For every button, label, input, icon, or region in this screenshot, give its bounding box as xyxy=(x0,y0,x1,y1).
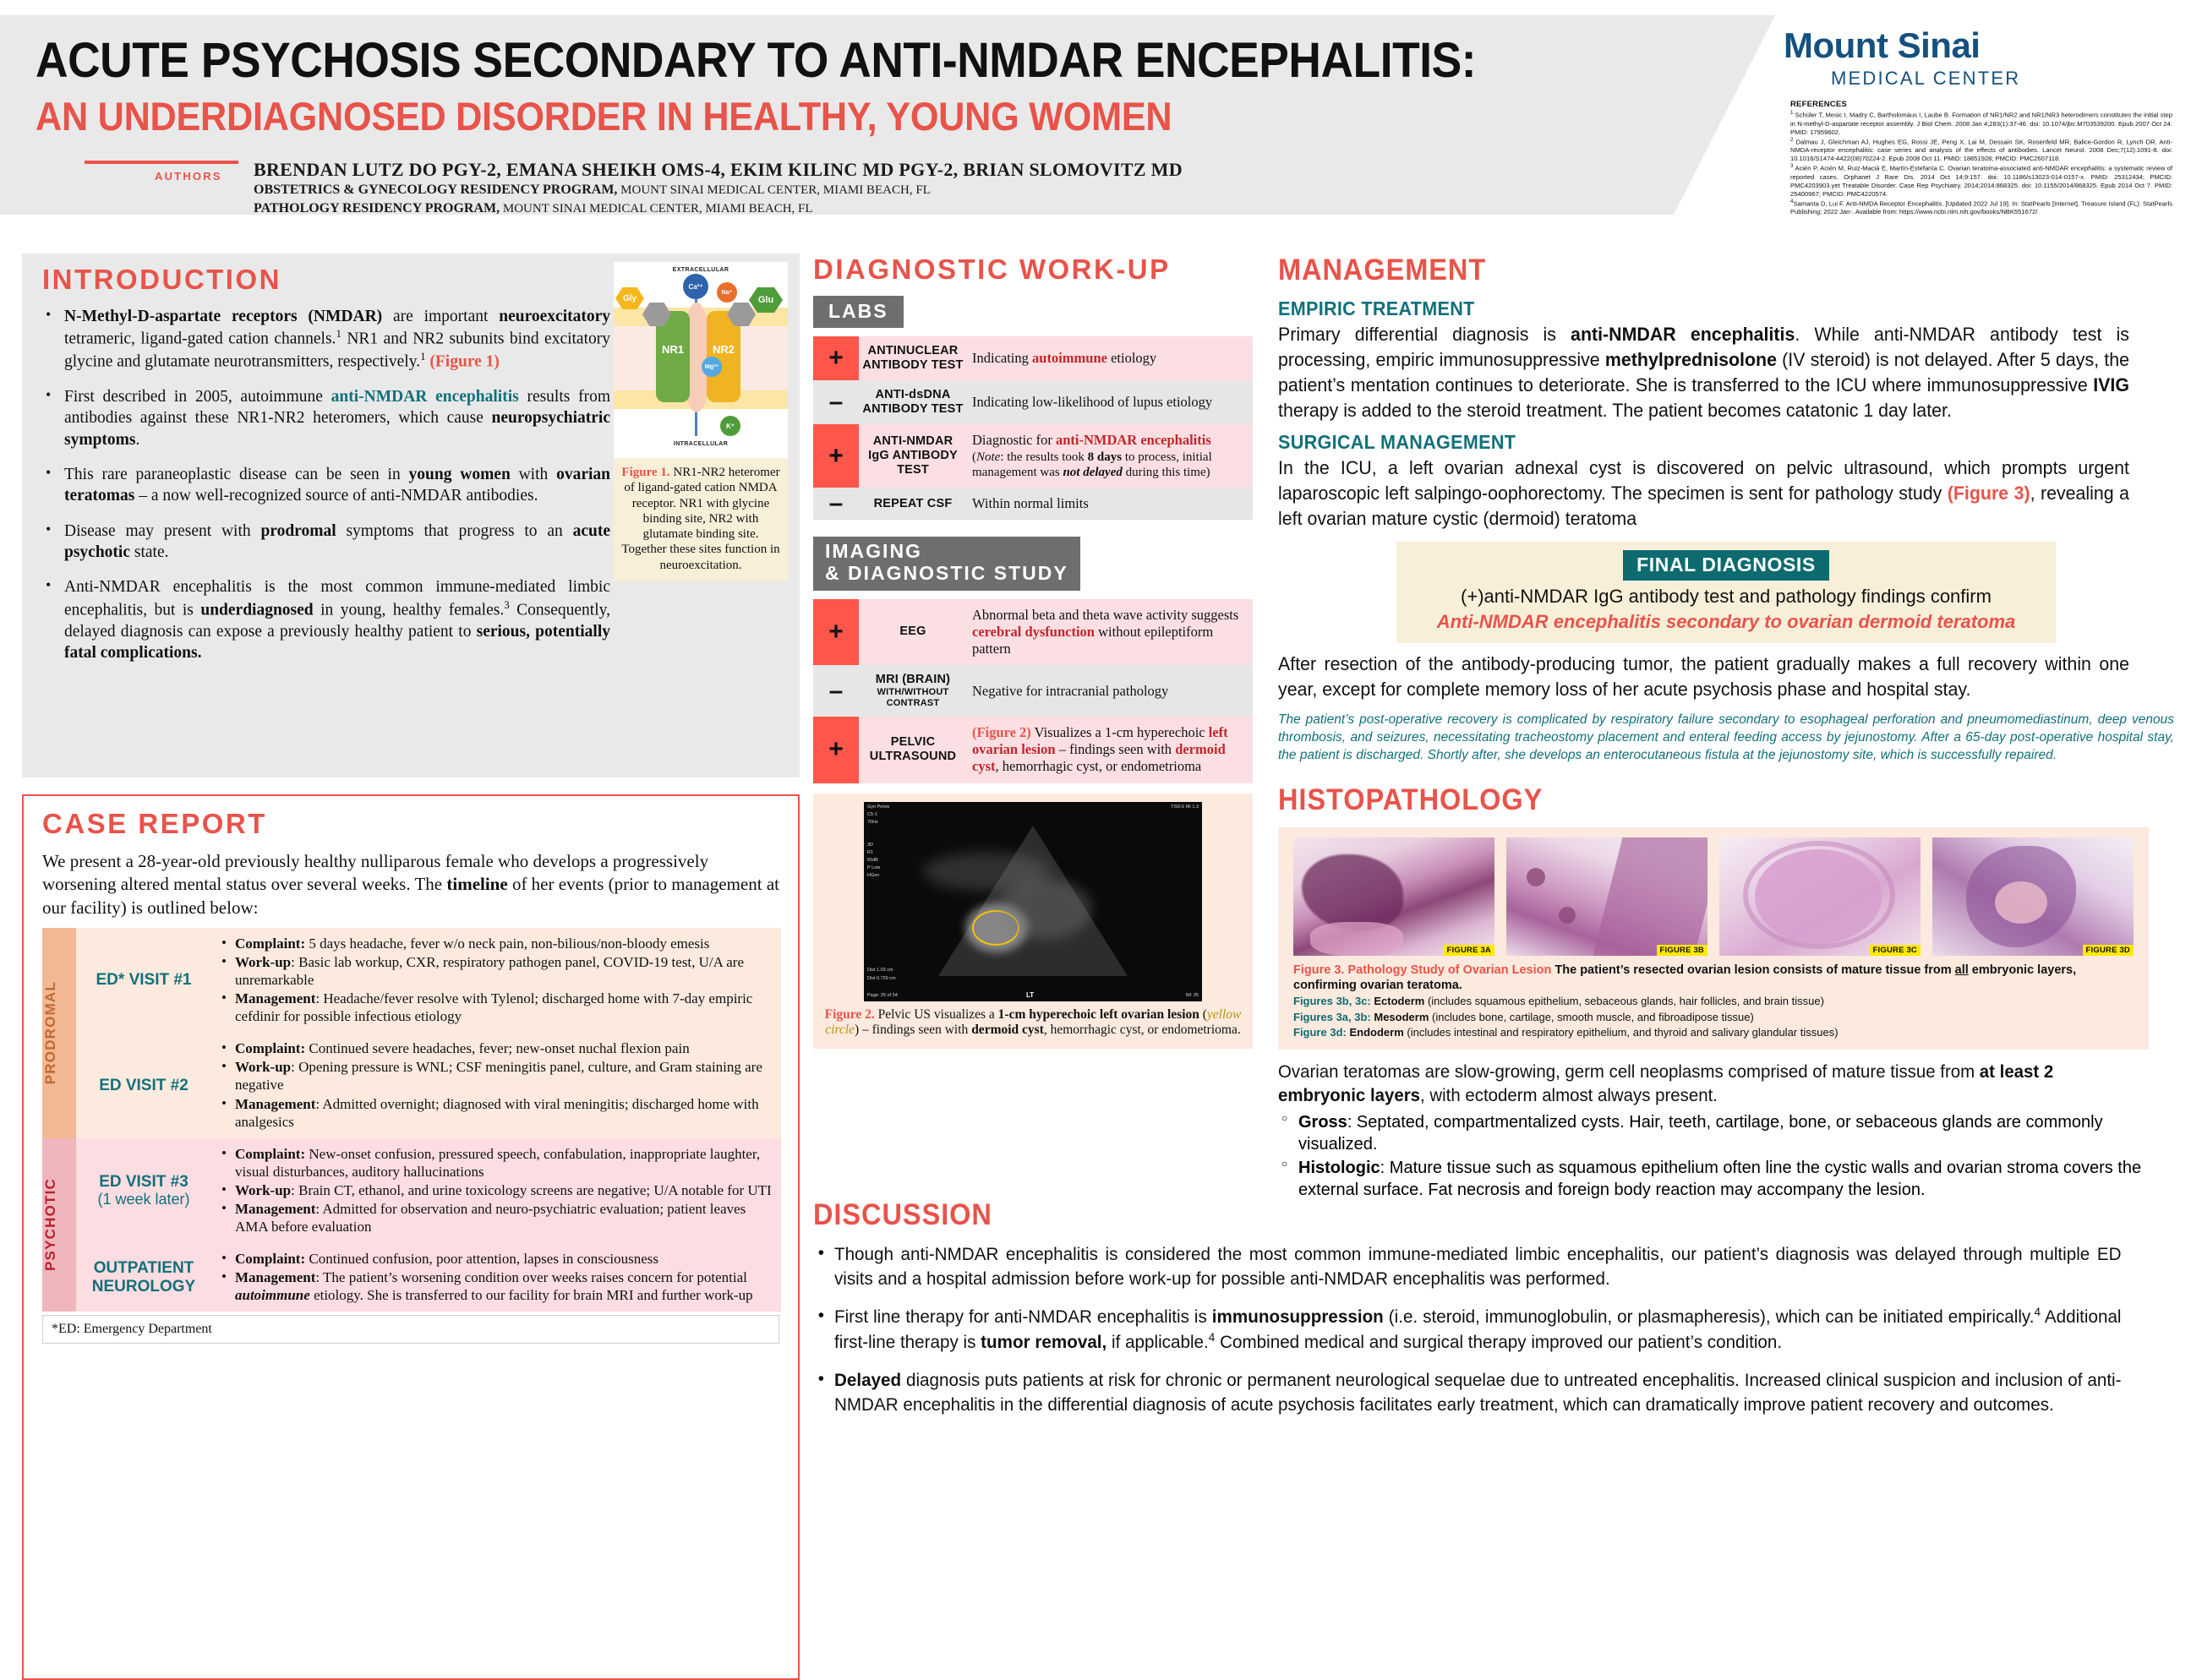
figure-1-label: Figure 1. xyxy=(621,466,669,479)
introduction-bullet-list: N-Methyl-D-aspartate receptors (NMDAR) a… xyxy=(42,306,610,663)
imaging-tag-line2: & DIAGNOSTIC STUDY xyxy=(825,563,1068,585)
reference-text: Dalmau J, Gleichman AJ, Hughes EG, Rossi… xyxy=(1790,138,2172,162)
visit-details-4: Complaint: Continued confusion, poor att… xyxy=(211,1243,781,1312)
figure-3-label: Figure 3. Pathology Study of Ovarian Les… xyxy=(1293,963,1551,977)
potassium-ion: K⁺ xyxy=(720,416,740,436)
management-heading: MANAGEMENT xyxy=(1278,254,2112,287)
extracellular-label: EXTRACELLULAR xyxy=(614,267,788,273)
us-label-gain: 65dB xyxy=(867,858,878,863)
histology-image-3a: FIGURE 3A xyxy=(1293,837,1494,956)
surgical-management-subheading: SURGICAL MANAGEMENT xyxy=(1278,431,2120,454)
affiliation-pathology-program: PATHOLOGY RESIDENCY PROGRAM, xyxy=(254,201,500,215)
references-title: REFERENCES xyxy=(1790,100,2172,109)
result-sign-negative: – xyxy=(813,488,859,520)
detail-list: Complaint: 5 days headache, fever w/o ne… xyxy=(218,935,774,1025)
final-diagnosis-box: FINAL DIAGNOSIS (+)anti-NMDAR IgG antibo… xyxy=(1396,542,2056,643)
diagnostic-workup-heading: DIAGNOSTIC WORK-UP xyxy=(813,254,1261,286)
list-item: Complaint: Continued severe headaches, f… xyxy=(218,1039,774,1057)
us-label-modality: Gyn Pelvis xyxy=(867,805,889,810)
imaging-table: + EEG Abnormal beta and theta wave activ… xyxy=(813,599,1253,783)
figure-3-caption: Figure 3. Pathology Study of Ovarian Les… xyxy=(1293,963,2134,1041)
visit-text: ED* VISIT #1 xyxy=(96,971,192,989)
introduction-panel: INTRODUCTION N-Methyl-D-aspartate recept… xyxy=(22,254,800,777)
affiliation-obgyn-site: MOUNT SINAI MEDICAL CENTER, MIAMI BEACH,… xyxy=(617,183,930,197)
detail-list: Complaint: New-onset confusion, pressure… xyxy=(218,1145,774,1235)
nr2-label: NR2 xyxy=(707,343,740,356)
list-item: Complaint: 5 days headache, fever w/o ne… xyxy=(218,935,774,952)
visit-label-1: ED* VISIT #1 xyxy=(76,928,211,1033)
us-label-dist1: Dist 1.03 cm xyxy=(867,968,893,973)
surgical-management-text: In the ICU, a left ovarian adnexal cyst … xyxy=(1278,455,2129,532)
list-item: First line therapy for anti-NMDAR enceph… xyxy=(813,1305,2122,1355)
table-row: ED VISIT #2 Complaint: Continued severe … xyxy=(42,1033,781,1137)
list-item: Management: Headache/fever resolve with … xyxy=(218,990,774,1025)
detail-list: Complaint: Continued confusion, poor att… xyxy=(218,1250,774,1304)
study-name-detail: WITH/WITHOUT CONTRAST xyxy=(862,687,964,709)
tissue-detail xyxy=(1527,868,1545,886)
affiliation-obgyn: OBSTETRICS & GYNECOLOGY RESIDENCY PROGRA… xyxy=(254,183,931,198)
study-name: MRI (BRAIN) WITH/WITHOUT CONTRAST xyxy=(859,665,967,717)
figure-2-panel: Gyn Pelvis C5-1 70Hz 3D R1 65dB P Low HG… xyxy=(813,794,1253,1050)
middle-column: DIAGNOSTIC WORK-UP LABS + ANTINUCLEAR AN… xyxy=(813,254,1261,1049)
recovery-text: After resection of the antibody-producin… xyxy=(1278,652,2129,702)
study-description: Abnormal beta and theta wave activity su… xyxy=(967,599,1253,665)
labs-tag: LABS xyxy=(813,296,904,328)
case-report-footnote: *ED: Emergency Department xyxy=(42,1315,779,1344)
us-label-tis: TIS0.6 MI 1.3 xyxy=(1171,805,1199,810)
phase-label-psychotic: PSYCHOTIC xyxy=(42,1138,76,1312)
intracellular-label: INTRACELLULAR xyxy=(614,441,788,447)
references-list: 1 Schüler T, Mesic I, Madry C, Bartholom… xyxy=(1790,110,2172,216)
result-sign-negative: – xyxy=(813,380,859,424)
figure-3a-tag: FIGURE 3A xyxy=(1444,945,1494,956)
empiric-treatment-text: Primary differential diagnosis is anti-N… xyxy=(1278,322,2129,424)
us-label-side: LT xyxy=(1026,991,1034,999)
us-tissue-near xyxy=(923,853,1050,891)
table-row: PRODROMAL ED* VISIT #1 Complaint: 5 days… xyxy=(42,928,781,1033)
introduction-heading: INTRODUCTION xyxy=(42,264,610,296)
list-item: Complaint: New-onset confusion, pressure… xyxy=(218,1145,774,1181)
sodium-ion: Na⁺ xyxy=(717,282,737,303)
phase-text: PRODROMAL xyxy=(42,981,59,1084)
case-timeline-table: PRODROMAL ED* VISIT #1 Complaint: 5 days… xyxy=(42,928,781,1312)
figure-2-caption: Figure 2. Pelvic US visualizes a 1-cm hy… xyxy=(823,1007,1243,1039)
page-subtitle: AN UNDERDIAGNOSED DISORDER IN HEALTHY, Y… xyxy=(36,93,1172,139)
nmda-receptor-diagram: EXTRACELLULAR INTRACELLULAR NR1 NR2 Gly … xyxy=(614,262,788,458)
discussion-panel: DISCUSSION Though anti-NMDAR encephaliti… xyxy=(813,1198,2176,1432)
gly-ligand: Gly xyxy=(615,287,644,309)
study-name: EEG xyxy=(859,599,967,665)
poster-header: ACUTE PSYCHOSIS SECONDARY TO ANTI-NMDAR … xyxy=(0,0,2191,230)
us-label-plow: P Low xyxy=(867,865,880,870)
list-item: Work-up: Basic lab workup, CXR, respirat… xyxy=(218,953,774,989)
test-description: Diagnostic for anti-NMDAR encephalitis(N… xyxy=(967,424,1253,488)
test-name: ANTI-dsDNA ANTIBODY TEST xyxy=(859,380,967,424)
reference-item: 4Samanta D, Lui F. Anti-NMDA Receptor En… xyxy=(1790,199,2172,217)
labs-table: + ANTINUCLEAR ANTIBODY TEST Indicating a… xyxy=(813,336,1253,520)
test-name: REPEAT CSF xyxy=(859,488,967,520)
case-report-heading: CASE REPORT xyxy=(42,808,779,840)
result-sign-positive: + xyxy=(813,717,859,783)
result-sign-negative: – xyxy=(813,665,859,717)
figure-3-layer-line: Figure 3d: Endoderm (includes intestinal… xyxy=(1293,1025,2134,1040)
us-label-dist2: Dist 0.729 cm xyxy=(867,976,896,981)
authors-label: AUTHORS xyxy=(155,170,222,183)
phase-text: PSYCHOTIC xyxy=(42,1178,59,1271)
list-item: Complaint: Continued confusion, poor att… xyxy=(218,1250,774,1268)
imaging-tag-line1: IMAGING xyxy=(825,541,1068,563)
empiric-treatment-subheading: EMPIRIC TREATMENT xyxy=(1278,297,2120,320)
tissue-detail xyxy=(1593,837,1707,956)
calcium-ion: Ca²⁺ xyxy=(683,274,708,299)
list-item: Anti-NMDAR encephalitis is the most comm… xyxy=(42,576,610,663)
reference-item: 3 Acién P, Acién M, Ruiz-Maciá E, Martín… xyxy=(1790,163,2172,199)
list-item: Gross: Septated, compartmentalized cysts… xyxy=(1278,1111,2174,1155)
study-description: Negative for intracranial pathology xyxy=(967,665,1253,717)
authors-list: BRENDAN LUTZ DO PGY-2, EMANA SHEIKH OMS-… xyxy=(254,159,1183,181)
list-item: Histologic: Mature tissue such as squamo… xyxy=(1278,1157,2174,1201)
result-sign-positive: + xyxy=(813,599,859,665)
imaging-tag: IMAGING & DIAGNOSTIC STUDY xyxy=(813,537,1080,591)
us-label-freq: 70Hz xyxy=(867,820,878,825)
list-item: Though anti-NMDAR encephalitis is consid… xyxy=(813,1242,2122,1291)
list-item: Management: Admitted for observation and… xyxy=(218,1200,774,1235)
case-report-intro: We present a 28-year-old previously heal… xyxy=(42,850,779,919)
list-item: Delayed diagnosis puts patients at risk … xyxy=(813,1368,2122,1417)
final-diagnosis-line2: Anti-NMDAR encephalitis secondary to ova… xyxy=(1396,611,2056,633)
visit-subtext: (1 week later) xyxy=(83,1191,205,1208)
final-diagnosis-tag: FINAL DIAGNOSIS xyxy=(1623,550,1829,581)
phase-label-prodromal: PRODROMAL xyxy=(42,928,76,1138)
visit-details-3: Complaint: New-onset confusion, pressure… xyxy=(211,1138,781,1243)
detail-list: Complaint: Continued severe headaches, f… xyxy=(218,1039,774,1130)
histopathology-panel: FIGURE 3A FIGURE 3B FIGURE 3C FIGURE 3D xyxy=(1278,827,2149,1050)
test-description: Indicating autoimmune etiology xyxy=(967,336,1253,380)
figure-3-caption-main: Figure 3. Pathology Study of Ovarian Les… xyxy=(1293,963,2134,995)
figure-3-layer-line: Figures 3b, 3c: Ectoderm (includes squam… xyxy=(1293,994,2134,1009)
tissue-detail xyxy=(1995,881,2047,924)
tissue-detail xyxy=(1302,854,1403,930)
nr1-label: NR1 xyxy=(656,343,690,356)
us-label-page: Page: 25 of 34 xyxy=(867,993,898,998)
discussion-bullet-list: Though anti-NMDAR encephalitis is consid… xyxy=(813,1242,2176,1418)
tissue-detail xyxy=(1310,922,1403,956)
magnesium-ion: Mg²⁺ xyxy=(702,357,722,377)
test-name: ANTINUCLEAR ANTIBODY TEST xyxy=(859,336,967,380)
figure-1: EXTRACELLULAR INTRACELLULAR NR1 NR2 Gly … xyxy=(614,262,788,581)
figure-3d-tag: FIGURE 3D xyxy=(2083,945,2134,956)
figure-3c-tag: FIGURE 3C xyxy=(1870,945,1921,956)
visit-text: ED VISIT #2 xyxy=(99,1077,189,1094)
pelvic-ultrasound-image: Gyn Pelvis C5-1 70Hz 3D R1 65dB P Low HG… xyxy=(864,802,1202,1001)
authors-rule xyxy=(85,161,238,164)
list-item: N-Methyl-D-aspartate receptors (NMDAR) a… xyxy=(42,306,610,373)
list-item: Work-up: Opening pressure is WNL; CSF me… xyxy=(218,1058,774,1094)
study-description: (Figure 2) Visualizes a 1-cm hyperechoic… xyxy=(967,717,1253,783)
test-description: Indicating low-likelihood of lupus etiol… xyxy=(967,380,1253,424)
table-row: + ANTI-NMDAR IgG ANTIBODY TEST Diagnosti… xyxy=(813,424,1253,488)
right-column: MANAGEMENT EMPIRIC TREATMENT Primary dif… xyxy=(1278,254,2174,1203)
complications-text: The patient’s post-operative recovery is… xyxy=(1278,711,2174,764)
reference-item: 1 Schüler T, Mesic I, Madry C, Bartholom… xyxy=(1790,110,2172,137)
visit-label-2: ED VISIT #2 xyxy=(76,1033,211,1137)
case-report-content: CASE REPORT We present a 28-year-old pre… xyxy=(24,796,798,1352)
table-row: + ANTINUCLEAR ANTIBODY TEST Indicating a… xyxy=(813,336,1253,380)
affiliation-pathology: PATHOLOGY RESIDENCY PROGRAM, MOUNT SINAI… xyxy=(254,201,813,216)
list-item: First described in 2005, autoimmune anti… xyxy=(42,386,610,450)
list-item: Management: Admitted overnight; diagnose… xyxy=(218,1095,774,1131)
visit-text: ED VISIT #3 xyxy=(99,1173,189,1191)
figure-3-layer-line: Figures 3a, 3b: Mesoderm (includes bone,… xyxy=(1293,1010,2134,1025)
case-report-panel: CASE REPORT We present a 28-year-old pre… xyxy=(22,794,800,1680)
table-row: OUTPATIENT NEUROLOGY Complaint: Continue… xyxy=(42,1243,781,1312)
us-label-hgen: HGen xyxy=(867,873,879,878)
study-name: PELVIC ULTRASOUND xyxy=(859,717,967,783)
tissue-detail xyxy=(1559,907,1576,924)
table-row: – MRI (BRAIN) WITH/WITHOUT CONTRAST Nega… xyxy=(813,665,1253,717)
visit-label-3: ED VISIT #3 (1 week later) xyxy=(76,1138,211,1243)
table-row: + EEG Abnormal beta and theta wave activ… xyxy=(813,599,1253,665)
table-row: – REPEAT CSF Within normal limits xyxy=(813,488,1253,520)
discussion-heading: DISCUSSION xyxy=(813,1198,2080,1232)
study-name-main: MRI (BRAIN) xyxy=(862,673,964,687)
figure-1-caption: Figure 1. NR1-NR2 heteromer of ligand-ga… xyxy=(614,458,788,581)
list-item: Management: The patient’s worsening cond… xyxy=(218,1268,774,1304)
us-label-im: IM: 25 xyxy=(1186,993,1199,998)
list-item: This rare paraneoplastic disease can be … xyxy=(42,464,610,507)
reference-text: Acién P, Acién M, Ruiz-Maciá E, Martín-E… xyxy=(1790,165,2172,198)
visit-text: OUTPATIENT NEUROLOGY xyxy=(92,1259,195,1295)
table-row: – ANTI-dsDNA ANTIBODY TEST Indicating lo… xyxy=(813,380,1253,424)
affiliation-obgyn-program: OBSTETRICS & GYNECOLOGY RESIDENCY PROGRA… xyxy=(254,183,617,197)
histology-image-3d: FIGURE 3D xyxy=(1932,837,2134,956)
figure-1-caption-text: NR1-NR2 heteromer of ligand-gated cation… xyxy=(621,466,779,572)
result-sign-positive: + xyxy=(813,424,859,488)
references-block: REFERENCES 1 Schüler T, Mesic I, Madry C… xyxy=(1790,100,2172,216)
histology-image-strip: FIGURE 3A FIGURE 3B FIGURE 3C FIGURE 3D xyxy=(1293,837,2134,956)
reference-text: Samanta D, Lui F. Anti-NMDA Receptor Enc… xyxy=(1790,199,2172,215)
final-diagnosis-line1: (+)anti-NMDAR IgG antibody test and path… xyxy=(1396,586,2056,608)
figure-3b-tag: FIGURE 3B xyxy=(1657,945,1707,956)
us-label-probe: C5-1 xyxy=(867,812,877,817)
test-name: ANTI-NMDAR IgG ANTIBODY TEST xyxy=(859,424,967,488)
tissue-detail xyxy=(1743,841,1895,949)
histopathology-sub-bullets: Gross: Septated, compartmentalized cysts… xyxy=(1278,1111,2174,1201)
visit-details-2: Complaint: Continued severe headaches, f… xyxy=(211,1033,781,1137)
introduction-content: INTRODUCTION N-Methyl-D-aspartate recept… xyxy=(42,264,610,677)
us-label-r1: R1 xyxy=(867,850,873,855)
result-sign-positive: + xyxy=(813,336,859,380)
table-row: + PELVIC ULTRASOUND (Figure 2) Visualize… xyxy=(813,717,1253,783)
mount-sinai-logo-secondary: MEDICAL CENTER xyxy=(1831,68,2020,90)
page-title: ACUTE PSYCHOSIS SECONDARY TO ANTI-NMDAR … xyxy=(36,32,1476,89)
reference-item: 2 Dalmau J, Gleichman AJ, Hughes EG, Ros… xyxy=(1790,137,2172,164)
reference-text: Schüler T, Mesic I, Madry C, Bartholomäu… xyxy=(1790,112,2172,136)
affiliation-pathology-site: MOUNT SINAI MEDICAL CENTER, MIAMI BEACH,… xyxy=(500,202,812,215)
list-item: Disease may present with prodromal sympt… xyxy=(42,521,610,564)
us-label-3d: 3D xyxy=(867,843,873,848)
visit-details-1: Complaint: 5 days headache, fever w/o ne… xyxy=(211,928,781,1033)
histopathology-heading: HISTOPATHOLOGY xyxy=(1278,783,2112,817)
mount-sinai-logo-primary: Mount Sinai xyxy=(1784,25,1980,66)
histology-image-3c: FIGURE 3C xyxy=(1719,837,1921,956)
test-description: Within normal limits xyxy=(967,488,1253,520)
histopathology-body: Ovarian teratomas are slow-growing, germ… xyxy=(1278,1060,2129,1109)
table-row: PSYCHOTIC ED VISIT #3 (1 week later) Com… xyxy=(42,1138,781,1243)
histology-image-3b: FIGURE 3B xyxy=(1506,837,1707,956)
visit-label-4: OUTPATIENT NEUROLOGY xyxy=(76,1243,211,1312)
list-item: Work-up: Brain CT, ethanol, and urine to… xyxy=(218,1181,774,1199)
